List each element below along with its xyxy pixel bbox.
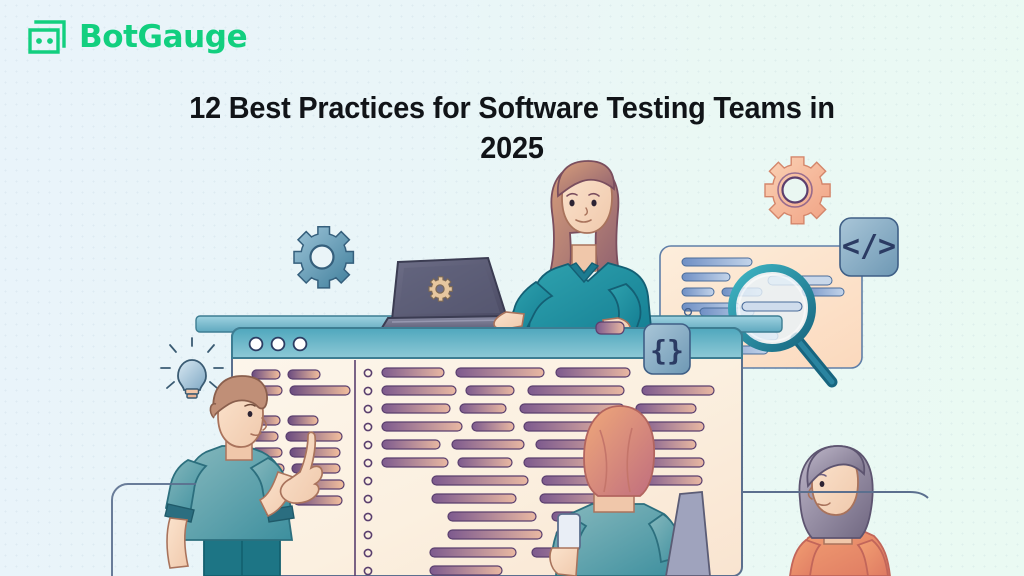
person-woman-right — [742, 446, 928, 576]
gear-icon-blue — [294, 227, 353, 288]
person-woman-laptop — [494, 161, 652, 338]
svg-text:</>: </> — [842, 229, 896, 264]
window-controls — [250, 338, 307, 351]
banner-canvas: </> — [0, 0, 1024, 576]
robot-face-bracket-icon — [24, 16, 70, 58]
code-tag-badge: </> — [840, 218, 898, 276]
laptop-gear-logo — [429, 277, 452, 301]
page-title: 12 Best Practices for Software Testing T… — [155, 88, 869, 167]
hero-illustration: </> — [0, 0, 1024, 576]
lightbulb-icon — [161, 338, 223, 398]
svg-text:{}: {} — [650, 334, 684, 367]
brand-wordmark: BotGauge — [79, 22, 247, 53]
brand-logo[interactable]: BotGauge — [24, 16, 247, 58]
